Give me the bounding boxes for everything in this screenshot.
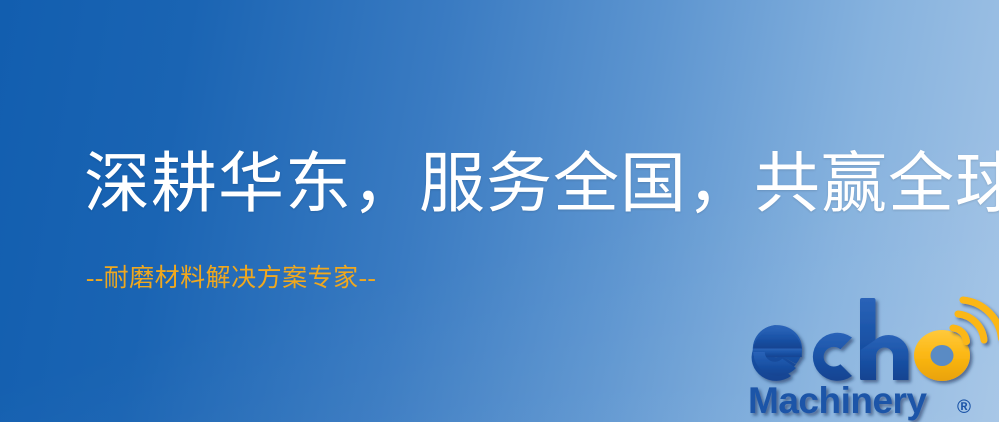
echo-machinery-logo[interactable]: Machinery ®: [744, 296, 999, 422]
banner-subtitle: --耐磨材料解决方案专家--: [86, 266, 376, 291]
logo-trademark: ®: [957, 397, 971, 418]
banner-headline: 深耕华东，服务全国，共赢全球: [84, 152, 999, 218]
logo-tagline: Machinery: [748, 380, 927, 421]
logo-wordmark-echo: [752, 298, 970, 381]
logo-artwork: Machinery ®: [744, 296, 999, 422]
logo-o-gold: [914, 330, 970, 381]
promo-banner: 深耕华东，服务全国，共赢全球 --耐磨材料解决方案专家--: [0, 0, 999, 422]
signal-waves-icon: [953, 300, 999, 342]
